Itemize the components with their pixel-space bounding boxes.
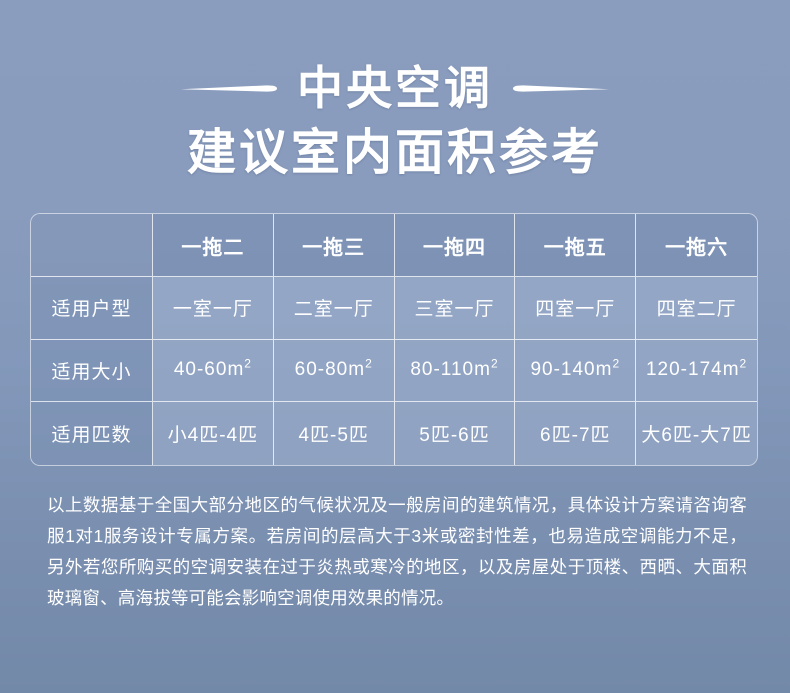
column-header-1: 一拖二: [153, 214, 274, 277]
superscript-2: 2: [244, 357, 252, 371]
column-header-5: 一拖六: [636, 214, 757, 277]
cell-house-type-3: 三室一厅: [395, 277, 516, 340]
poster-root: 中央空调 建议室内面积参考 一拖二 一拖三 一拖四 一拖五 一拖六 适用户型 一…: [0, 0, 790, 693]
page-title-secondary: 建议室内面积参考: [0, 124, 790, 182]
cell-area-size-1: 40-60m2: [153, 340, 274, 403]
table-row: 适用大小 40-60m2 60-80m2 80-110m2 90-140m2 1…: [31, 340, 757, 403]
superscript-2: 2: [612, 357, 620, 371]
spec-table: 一拖二 一拖三 一拖四 一拖五 一拖六 适用户型 一室一厅 二室一厅 三室一厅 …: [31, 214, 757, 465]
tapered-dash-right-icon: [513, 84, 609, 93]
cell-area-size-3: 80-110m2: [395, 340, 516, 403]
title-block: 中央空调 建议室内面积参考: [0, 58, 790, 182]
superscript-2: 2: [740, 357, 748, 371]
row-label-area-size: 适用大小: [31, 340, 153, 403]
table-corner-cell: [31, 214, 153, 277]
cell-area-size-2: 60-80m2: [274, 340, 395, 403]
row-label-horsepower: 适用匹数: [31, 402, 153, 465]
row-label-house-type: 适用户型: [31, 277, 153, 340]
tapered-dash-left-icon: [181, 84, 277, 93]
cell-house-type-5: 四室二厅: [636, 277, 757, 340]
cell-house-type-4: 四室一厅: [515, 277, 636, 340]
footnote-text: 以上数据基于全国大部分地区的气候状况及一般房间的建筑情况，具体设计方案请咨询客服…: [47, 490, 747, 614]
column-header-2: 一拖三: [274, 214, 395, 277]
cell-horsepower-5: 大6匹-大7匹: [636, 402, 757, 465]
superscript-2: 2: [365, 357, 373, 371]
area-value-5: 120-174m: [646, 359, 740, 380]
table-header-row: 一拖二 一拖三 一拖四 一拖五 一拖六: [31, 214, 757, 277]
cell-house-type-1: 一室一厅: [153, 277, 274, 340]
cell-horsepower-2: 4匹-5匹: [274, 402, 395, 465]
cell-area-size-5: 120-174m2: [636, 340, 757, 403]
cell-horsepower-1: 小4匹-4匹: [153, 402, 274, 465]
superscript-2: 2: [491, 357, 499, 371]
cell-house-type-2: 二室一厅: [274, 277, 395, 340]
cell-area-size-4: 90-140m2: [515, 340, 636, 403]
page-title-primary: 中央空调: [297, 58, 493, 118]
column-header-3: 一拖四: [395, 214, 516, 277]
table-row: 适用户型 一室一厅 二室一厅 三室一厅 四室一厅 四室二厅: [31, 277, 757, 340]
area-value-3: 80-110m: [410, 359, 491, 380]
area-value-2: 60-80m: [295, 359, 365, 380]
title-line1-row: 中央空调: [0, 58, 790, 118]
area-value-4: 90-140m: [530, 359, 612, 380]
column-header-4: 一拖五: [515, 214, 636, 277]
cell-horsepower-4: 6匹-7匹: [515, 402, 636, 465]
area-value-1: 40-60m: [174, 359, 244, 380]
table-row: 适用匹数 小4匹-4匹 4匹-5匹 5匹-6匹 6匹-7匹 大6匹-大7匹: [31, 402, 757, 465]
cell-horsepower-3: 5匹-6匹: [395, 402, 516, 465]
